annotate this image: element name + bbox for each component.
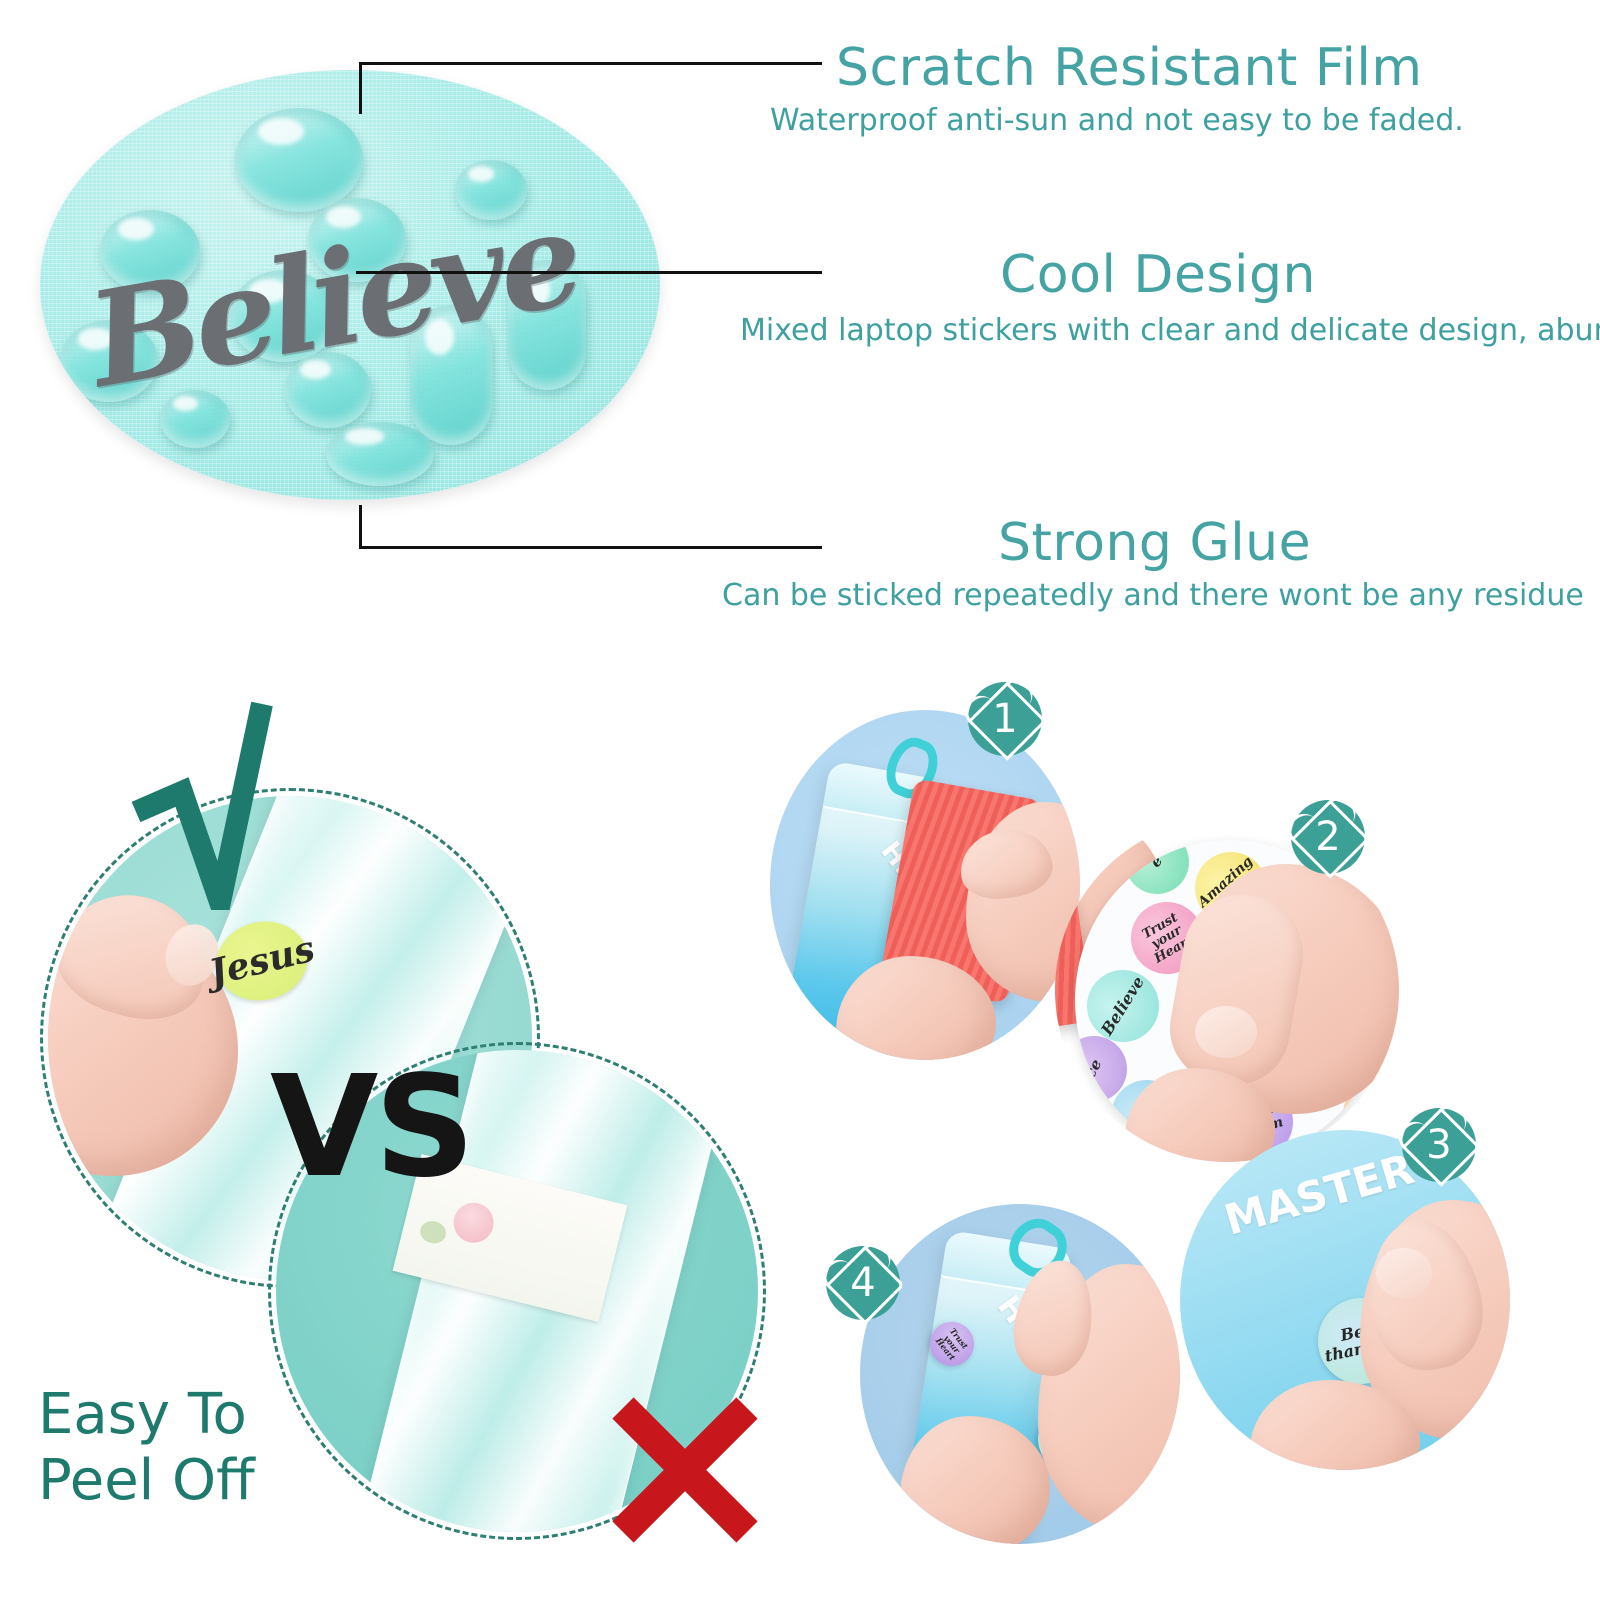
step-1: HELLO MASTER 1	[770, 690, 1090, 1080]
water-droplet	[160, 390, 230, 448]
sticker-have-dream-bg: Have dream	[1180, 1130, 1243, 1195]
feature-subtitle-2: Mixed laptop stickers with clear and del…	[740, 310, 1600, 351]
step-2-photo: Amazing grace Trust your Heart Believe W…	[1055, 818, 1399, 1162]
feature-title-3: Strong Glue	[998, 513, 1311, 573]
easy-peel-label: Easy To Peel Off	[38, 1382, 255, 1514]
bottle-text-line2: MASTER	[1219, 1144, 1419, 1245]
step-number-3: 3	[1426, 1122, 1451, 1168]
step-badge-3: 3	[1402, 1108, 1476, 1182]
water-droplet	[60, 320, 158, 402]
water-droplet	[508, 260, 586, 390]
water-droplet	[230, 270, 338, 362]
infographic-page: Believe Scratch Resistant Film Waterproo…	[0, 0, 1600, 1600]
x-mark-icon	[605, 1390, 765, 1550]
step-3-photo: MASTER Be * thankful Have dream	[1180, 1130, 1510, 1470]
water-droplet	[410, 305, 492, 445]
water-droplet	[285, 352, 371, 428]
water-droplet	[100, 210, 200, 292]
step-badge-2: 2	[1291, 800, 1365, 874]
water-droplet	[326, 422, 434, 486]
step-2: Amazing grace Trust your Heart Believe W…	[1055, 800, 1405, 1170]
feature-subtitle-3: Can be sticked repeatedly and there wont…	[722, 575, 1584, 616]
water-droplet	[308, 198, 406, 282]
sticker-disc: Believe	[40, 70, 660, 500]
step-badge-4: 4	[826, 1246, 900, 1320]
step-number-4: 4	[850, 1260, 875, 1306]
feature-subtitle-1: Waterproof anti-sun and not easy to be f…	[770, 100, 1464, 141]
check-mark-icon	[120, 680, 290, 910]
fingernail	[1195, 1006, 1257, 1058]
fingernail	[1376, 1248, 1432, 1298]
feature-title-1: Scratch Resistant Film	[836, 38, 1423, 98]
step-number-2: 2	[1315, 814, 1340, 860]
step-badge-1: 1	[968, 682, 1042, 756]
hero-sticker-image: Believe	[40, 70, 660, 500]
step-number-1: 1	[992, 696, 1017, 742]
step-1-photo: HELLO MASTER	[770, 710, 1080, 1060]
step-4: HELLO MASTER Trust your Heart Be * thank…	[840, 1190, 1190, 1570]
step-4-photo: HELLO MASTER Trust your Heart Be * thank…	[860, 1204, 1180, 1544]
vs-label: VS	[270, 1058, 471, 1198]
feature-title-2: Cool Design	[1000, 245, 1316, 305]
water-droplet	[455, 160, 527, 220]
peel-comparison-section: Jesus VS Easy To Peel Off	[20, 670, 780, 1580]
water-droplet	[235, 108, 363, 212]
step-3: MASTER Be * thankful Have dream 3	[1180, 1120, 1520, 1490]
